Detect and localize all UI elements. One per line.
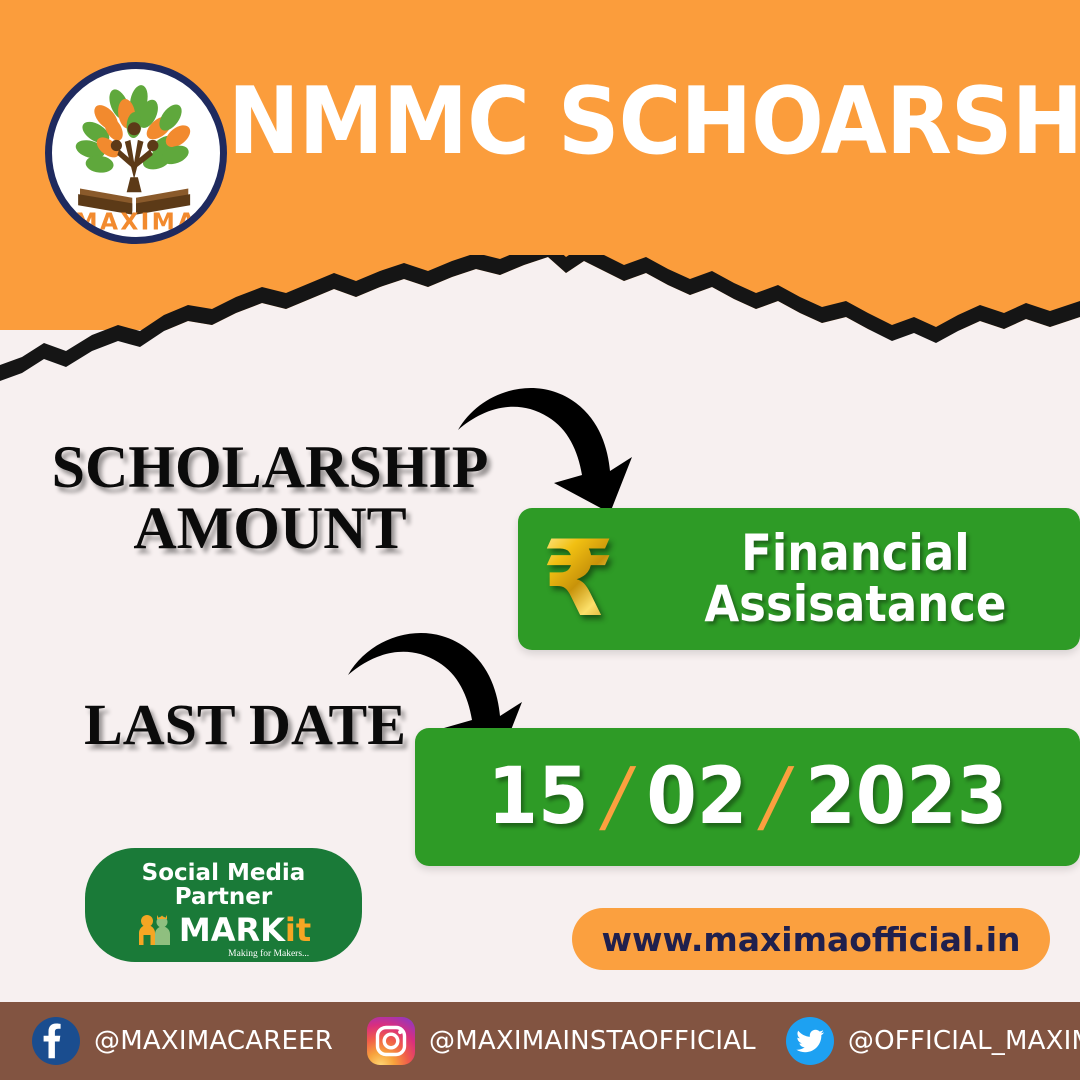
instagram-icon[interactable] [367,1017,415,1065]
last-date-month: 02 [647,758,748,836]
website-pill[interactable]: www.maximaofficial.in [572,908,1050,970]
last-date-value: 15 / 02 / 2023 [488,758,1008,836]
financial-assistance-line2: Assisatance [660,579,1051,630]
markit-logo: MARKitMaking for Makers... [136,913,311,947]
last-date-year: 2023 [805,758,1007,836]
curved-arrow-down-right-icon [450,375,650,520]
facebook-handle[interactable]: @MAXIMACAREER [94,1026,333,1056]
social-link-facebook[interactable]: @MAXIMACAREER [32,1017,333,1065]
scholarship-amount-label: SCHOLARSHIP AMOUNT [40,437,500,559]
twitter-icon[interactable] [786,1017,834,1065]
tree-book-logo-icon: MAXIMA [52,69,220,237]
two-people-icon [136,913,174,947]
maxima-logo-badge: MAXIMA [45,62,227,244]
markit-mark-text: MARK [179,911,285,949]
twitter-handle[interactable]: @OFFICIAL_MAXIMA [848,1026,1080,1056]
facebook-icon[interactable] [32,1017,80,1065]
instagram-handle[interactable]: @MAXIMAINSTAOFFICIAL [429,1026,756,1056]
financial-assistance-line1: Financial [660,528,1051,579]
markit-it-text: it [285,911,311,949]
social-footer-bar: @MAXIMACAREER @ [0,1002,1080,1080]
page-title: NMMC SCHOARSHIP [228,66,992,176]
rupee-icon: ₹ [541,527,614,632]
last-date-panel: 15 / 02 / 2023 [415,728,1080,866]
social-media-partner-badge: Social Media Partner MARKitMaking for Ma… [85,848,362,962]
scholarship-amount-label-line1: SCHOLARSHIP [40,437,500,498]
social-link-instagram[interactable]: @MAXIMAINSTAOFFICIAL [367,1017,756,1065]
poster-canvas: MAXIMA NMMC SCHOARSHIP SCHOLARSHIP AMOUN… [0,0,1080,1080]
markit-tagline: Making for Makers... [228,950,309,960]
scholarship-amount-label-line2: AMOUNT [40,498,500,559]
logo-wordmark: MAXIMA [74,208,197,236]
partner-title-line1: Social Media [142,861,306,885]
markit-wordmark: MARKitMaking for Makers... [179,914,311,946]
rupee-symbol-wrap: ₹ [518,527,638,632]
website-url[interactable]: www.maximaofficial.in [601,920,1020,959]
date-separator-1: / [587,758,649,836]
social-link-twitter[interactable]: @OFFICIAL_MAXIMA [786,1017,1080,1065]
financial-assistance-panel: ₹ Financial Assisatance [518,508,1080,650]
partner-title: Social Media Partner [142,861,306,910]
financial-assistance-text: Financial Assisatance [660,528,1058,630]
date-separator-2: / [745,758,807,836]
partner-title-line2: Partner [142,885,306,909]
last-date-day: 15 [488,758,589,836]
